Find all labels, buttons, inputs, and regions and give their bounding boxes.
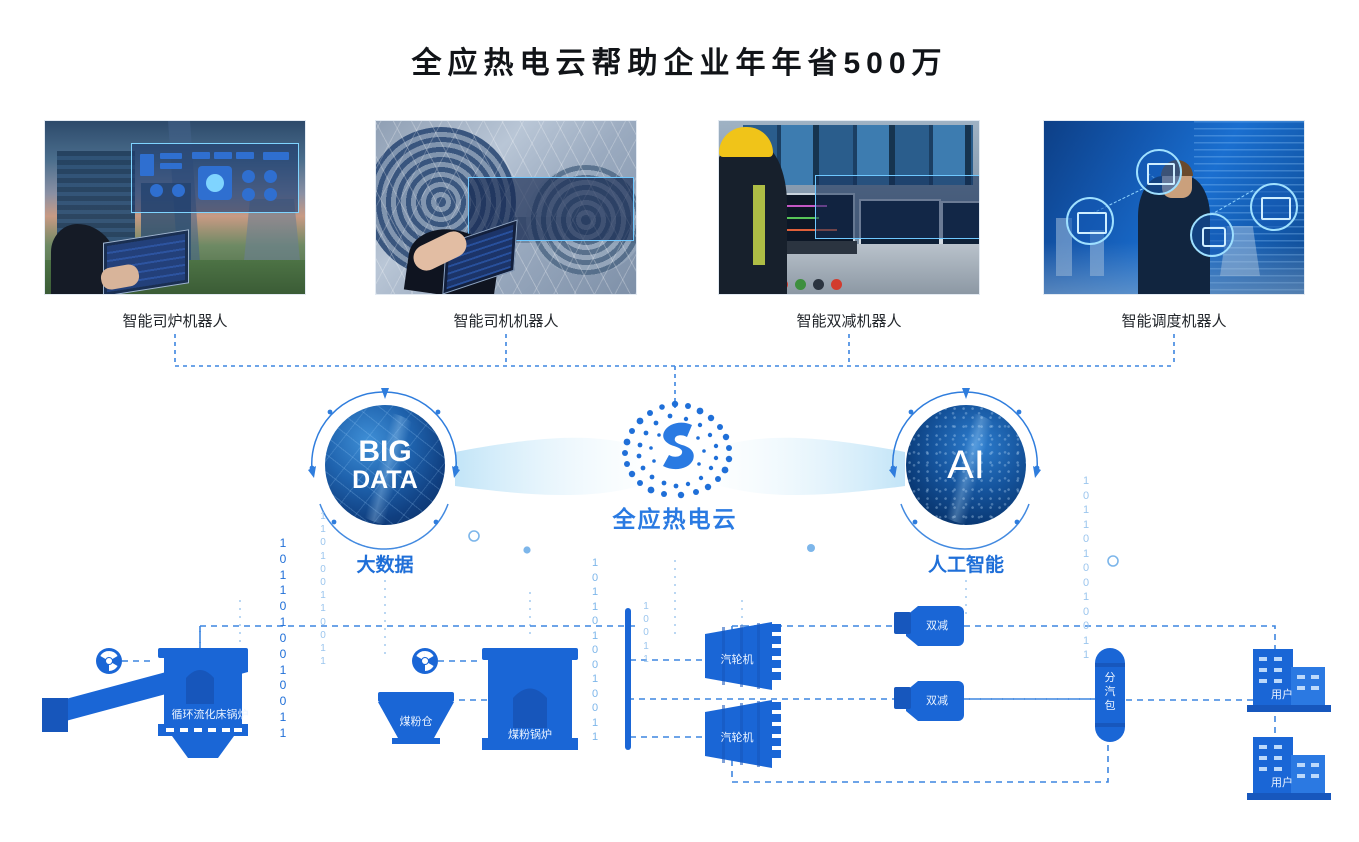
binary-digit: 1 [276, 726, 290, 742]
binary-digit: 0 [588, 614, 602, 629]
steam-drum-label-char: 包 [1100, 700, 1120, 714]
binary-digit: 1 [1079, 503, 1093, 518]
photo3-console-button [795, 279, 806, 290]
photo3-hmi-overlay [815, 175, 980, 239]
label-reducer-top: 双减 [914, 617, 960, 633]
binary-digit: 0 [588, 571, 602, 586]
photo-caption-reducer-robot: 智能双减机器人 [718, 310, 980, 331]
binary-digit: 0 [588, 687, 602, 702]
binary-digit: 1 [276, 536, 290, 552]
photo-card-boiler-robot [44, 120, 306, 295]
bigdata-line2: DATA [352, 468, 418, 494]
binary-digit: 1 [1079, 474, 1093, 489]
binary-digit: 0 [588, 643, 602, 658]
binary-digit: 0 [276, 678, 290, 694]
binary-digit: 1 [316, 642, 330, 655]
photo4-icon-node-monitor [1250, 183, 1298, 231]
steam-drum-label-char: 分 [1100, 672, 1120, 686]
cfb-sensor-icon [96, 648, 122, 674]
binary-digit: 1 [588, 585, 602, 600]
label-cfb-boiler: 循环流化床锅炉 [160, 706, 260, 722]
binary-digit: 0 [1079, 619, 1093, 634]
ai-sphere: AI [906, 405, 1026, 525]
label-turbine-bottom: 汽轮机 [709, 729, 765, 745]
binary-digit: 1 [588, 730, 602, 745]
label-steam-drum-text: 分汽包 [1100, 672, 1120, 713]
page-title: 全应热电云帮助企业年年省500万 [0, 38, 1359, 82]
photo-caption-boiler-robot: 智能司炉机器人 [44, 310, 306, 331]
binary-digit: 0 [276, 552, 290, 568]
cloud-label: 全应热电云 [565, 500, 785, 534]
cloud-logo-icon [600, 398, 750, 513]
photo4-icon-node-analytics [1066, 197, 1114, 245]
binary-digit: 0 [316, 629, 330, 642]
bigdata-label: 大数据 [325, 550, 445, 577]
binary-column-left-inner: 110100110011 [316, 510, 330, 668]
binary-digit: 1 [639, 640, 653, 653]
binary-digit: 1 [1079, 634, 1093, 649]
binary-digit: 1 [276, 568, 290, 584]
binary-digit: 1 [316, 602, 330, 615]
label-coal-bin: 煤粉仓 [381, 713, 451, 729]
binary-digit: 0 [276, 647, 290, 663]
ai-text: AI [947, 445, 985, 486]
binary-digit: 1 [316, 550, 330, 563]
binary-digit: 1 [639, 600, 653, 613]
steam-drum-label-char: 汽 [1100, 686, 1120, 700]
binary-digit: 1 [276, 615, 290, 631]
binary-digit: 1 [316, 655, 330, 668]
binary-digit: 0 [639, 626, 653, 639]
binary-digit: 0 [588, 701, 602, 716]
photo-card-reducer-robot [718, 120, 980, 295]
photo1-hmi-overlay [131, 143, 299, 213]
binary-digit: 1 [639, 653, 653, 666]
binary-digit: 1 [316, 510, 330, 523]
bigdata-sphere: BIG DATA [325, 405, 445, 525]
label-turbine-top: 汽轮机 [709, 651, 765, 667]
binary-digit: 0 [316, 576, 330, 589]
binary-digit: 1 [588, 672, 602, 687]
label-user-top: 用户 [1262, 686, 1302, 702]
binary-column-left-outer: 1011010010011 [276, 536, 290, 742]
binary-digit: 0 [316, 616, 330, 629]
photo-card-dispatch-robot [1043, 120, 1305, 295]
bigdata-line1: BIG [358, 437, 411, 468]
photo3-operator-vest-stripe [753, 185, 765, 265]
binary-digit: 1 [1079, 547, 1093, 562]
label-steam-drum: 分汽包 [1100, 672, 1120, 713]
photo3-console-button [813, 279, 824, 290]
binary-digit: 0 [1079, 489, 1093, 504]
photo-caption-driver-robot: 智能司机机器人 [375, 310, 637, 331]
binary-digit: 0 [276, 631, 290, 647]
ai-label: 人工智能 [906, 550, 1026, 577]
binary-digit: 0 [639, 613, 653, 626]
photo4-icon-node-flame [1136, 149, 1182, 195]
binary-digit: 0 [276, 694, 290, 710]
label-reducer-bottom: 双减 [914, 692, 960, 708]
binary-digit: 0 [1079, 532, 1093, 547]
binary-digit: 0 [316, 563, 330, 576]
infographic-canvas: 全应热电云帮助企业年年省500万 智能司炉机器人 [0, 0, 1359, 842]
binary-digit: 1 [316, 523, 330, 536]
binary-digit: 0 [588, 658, 602, 673]
photo-card-driver-robot [375, 120, 637, 295]
binary-digit: 1 [588, 629, 602, 644]
binary-digit: 1 [316, 589, 330, 602]
binary-digit: 1 [588, 600, 602, 615]
photo3-console-button [831, 279, 842, 290]
binary-column-right: 1011010010011 [1079, 474, 1093, 663]
binary-column-mid: 1011010010011 [588, 556, 602, 745]
binary-digit: 0 [276, 599, 290, 615]
binary-digit: 0 [1079, 576, 1093, 591]
label-user-bottom: 用户 [1262, 774, 1302, 790]
photo-caption-dispatch-robot: 智能调度机器人 [1043, 310, 1305, 331]
binary-digit: 1 [1079, 590, 1093, 605]
binary-digit: 0 [316, 536, 330, 549]
binary-digit: 1 [588, 556, 602, 571]
binary-digit: 1 [1079, 648, 1093, 663]
label-pc-boiler: 煤粉锅炉 [490, 726, 570, 742]
binary-digit: 1 [276, 583, 290, 599]
binary-digit: 0 [1079, 561, 1093, 576]
binary-column-mid-small: 10011 [639, 600, 653, 666]
binary-digit: 1 [276, 663, 290, 679]
binary-digit: 1 [276, 710, 290, 726]
binary-digit: 0 [1079, 605, 1093, 620]
binary-digit: 1 [588, 716, 602, 731]
coal-bin-sensor-icon [412, 648, 438, 674]
binary-digit: 1 [1079, 518, 1093, 533]
photo4-icon-node-alarm [1190, 213, 1234, 257]
main-steam-header [625, 608, 631, 750]
